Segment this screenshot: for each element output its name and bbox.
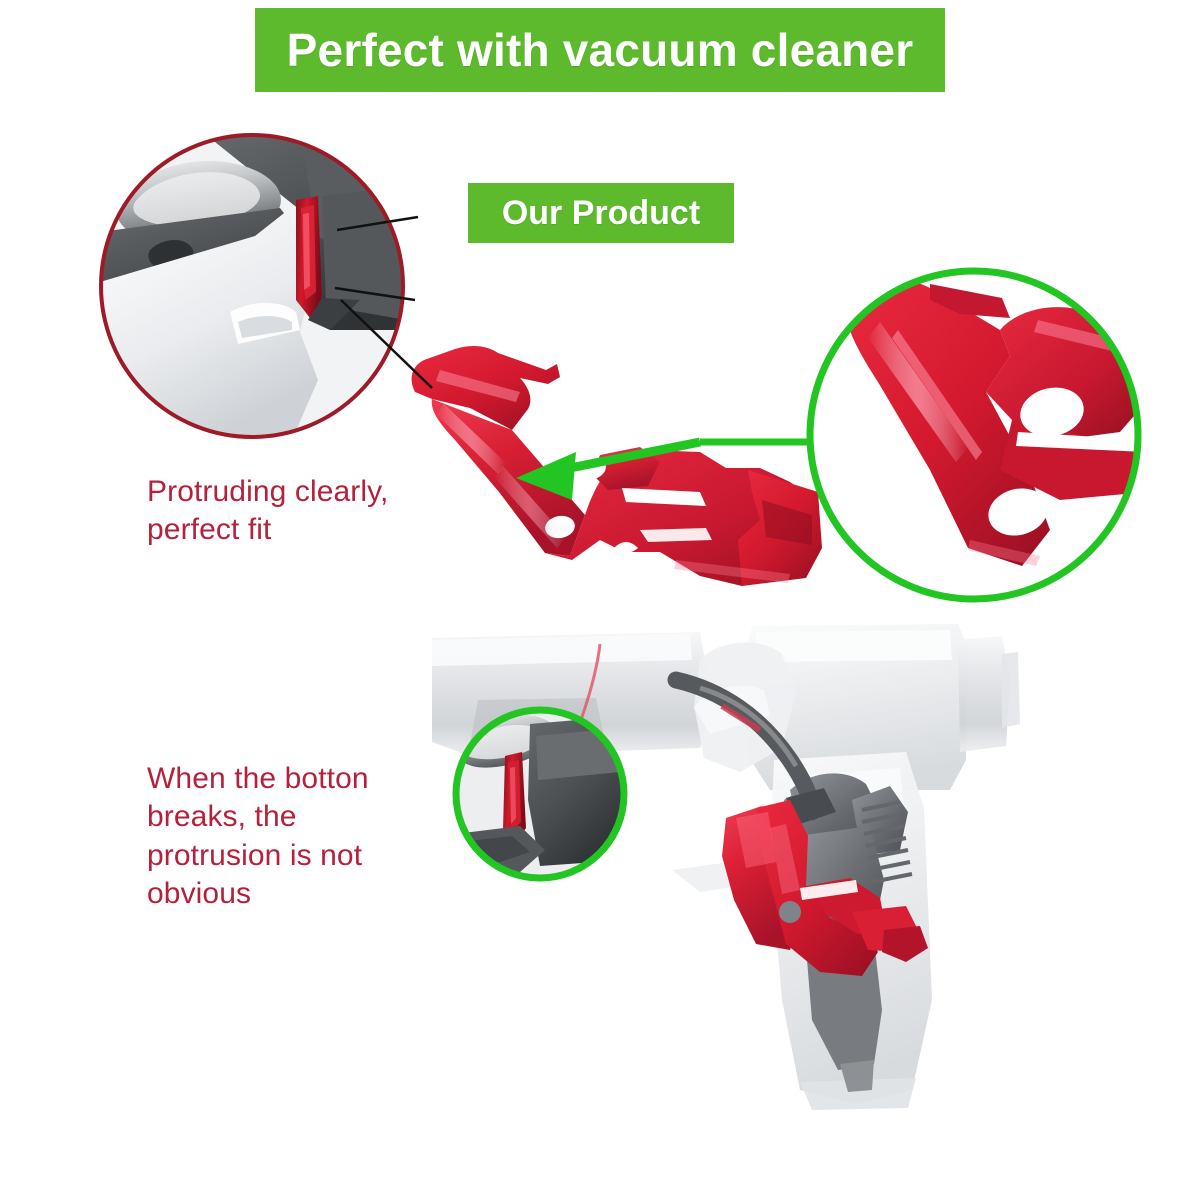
vacuum-cleaner-ghost-view — [432, 624, 1020, 1110]
installed-trigger-pivot — [779, 901, 801, 923]
header-banner: Perfect with vacuum cleaner — [255, 8, 945, 92]
detail-circle-top-left — [100, 134, 406, 440]
caption-protruding-clearly: Protruding clearly, perfect fit — [147, 473, 477, 550]
our-product-tag: Our Product — [468, 183, 734, 243]
detail-circle-bottom — [454, 709, 625, 879]
infographic-canvas: Perfect with vacuum cleaner Our Product … — [0, 0, 1200, 1200]
caption-botton-breaks: When the botton breaks, the protrusion i… — [147, 760, 392, 914]
banner-title: Perfect with vacuum cleaner — [287, 23, 914, 77]
detail-circle-right — [808, 269, 1146, 601]
artwork-layer — [0, 0, 1200, 1200]
product-red-trigger — [412, 346, 822, 586]
our-product-label: Our Product — [502, 194, 700, 233]
